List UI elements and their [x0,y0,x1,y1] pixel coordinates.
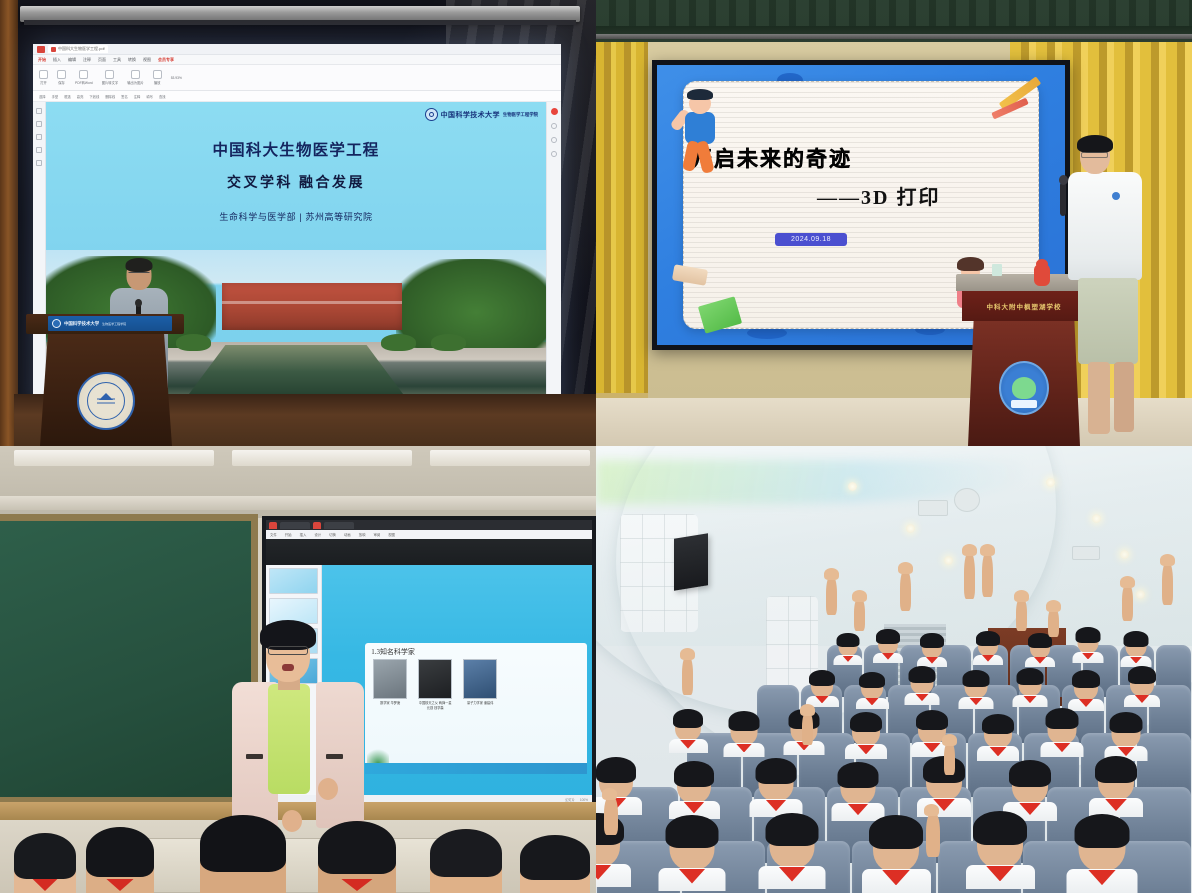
menu-item-start[interactable]: 开始 [38,57,46,63]
tool-marquee[interactable]: 框选 [64,94,71,99]
menu-item-convert[interactable]: 转换 [128,57,136,63]
student-head [978,633,998,655]
ustc-logo-sub: 生物医学工程学院 [503,112,538,118]
student-hair [876,629,899,644]
tool-highlight[interactable]: 高亮 [77,94,84,99]
slide-subtitle: ——3D 打印 [817,181,940,210]
student-hair [1124,631,1148,647]
portrait-caption: 数学家 华罗庚 [373,701,407,705]
red-scarf [679,869,706,884]
red-scarf [990,747,1007,756]
ustc-logo: 中国科学技术大学 生物医学工程学院 [425,108,538,121]
ribbon-open-button[interactable]: 打开 [39,70,48,85]
student-torso [1124,695,1160,707]
student-in-seat [770,818,815,889]
student-hair [837,633,859,647]
ribbon-ocr-button[interactable]: 图片转文字 [102,70,118,85]
raised-hand [604,795,618,835]
menu-item[interactable]: 文件 [270,532,277,537]
browser-tab[interactable] [324,522,354,529]
campus-bush [431,334,466,350]
slide-subtitle: 交叉学科 融合发展 [46,172,546,192]
play-icon [153,70,162,79]
student-torso [862,869,931,893]
student-head [670,820,715,870]
student-head [1019,671,1042,697]
wps-ribbon: 打开 保存 PDF转Word 图片转文字 输出为图片 [33,65,561,91]
student-silhouette [86,827,154,893]
raised-hand [982,551,993,597]
student-torso [1072,652,1104,663]
student-head [852,715,880,746]
ribbon-save-button[interactable]: 保存 [57,70,66,85]
student-in-seat [852,715,880,759]
student-torso [832,803,885,821]
tree-book-icon [1012,377,1036,399]
red-scarf [1117,747,1134,757]
student-in-seat [878,631,898,663]
ribbon-convert-label: PDF转Word [75,80,93,85]
student-head [861,674,883,699]
app-menu-bar: 文件 开始 插入 设计 切换 动画 放映 审阅 视图 [266,530,592,539]
water-cup [992,264,1002,276]
red-scarf [1079,699,1093,707]
student-head [922,635,942,657]
tool-fill[interactable]: 填写 [146,94,153,99]
student-torso [1013,695,1048,707]
pagoda-icon [97,393,115,409]
red-scarf [1082,653,1095,660]
menu-item[interactable]: 动画 [344,532,351,537]
ceiling-light [232,450,412,466]
red-scarf [680,740,696,749]
attachment-icon[interactable] [36,147,42,153]
wps-tab-bar: 中国科大生物医学工程.pdf [33,44,561,55]
panel-bottom-left: 文件 开始 插入 设计 切换 动画 放映 审阅 视图 [0,446,596,893]
teacher-hand [318,778,338,800]
raised-hand [1122,583,1133,621]
raised-hand [926,811,940,857]
ceiling-beam [0,496,596,510]
student-in-seat [759,762,794,817]
red-scarf [865,698,878,705]
student-silhouette [200,815,286,893]
student-hair [916,710,948,731]
ribbon-open-label: 打开 [40,80,47,85]
student-hair [728,711,759,731]
student-in-seat [1126,634,1147,667]
student-hair [430,829,502,877]
student-in-seat [922,635,942,667]
student-head [911,669,934,695]
student-hair [1075,814,1130,849]
student-silhouette [318,821,396,893]
browser-tab[interactable] [280,522,310,529]
pdf-file-icon [51,47,56,52]
ribbon-save-label: 保存 [58,80,65,85]
microphone-icon [1060,182,1066,216]
search-icon[interactable] [551,123,557,129]
red-scarf [1019,803,1041,815]
student-in-seat [677,765,711,819]
wps-tools-row: 选择 手型 框选 高亮 下划线 删除线 签名 注释 填写 查找 [33,91,561,102]
student-head [1130,669,1154,696]
raised-hand [802,711,813,745]
student-hair [982,714,1014,735]
student-in-seat [965,673,988,709]
red-scarf [736,744,752,753]
menu-item[interactable]: 设计 [314,532,321,537]
student-in-seat [1019,671,1042,707]
student-torso [977,746,1019,761]
wps-menu-bar: 开始 插入 编辑 注释 页面 工具 转换 视图 会员专享 [33,55,561,65]
convert-icon [79,70,88,79]
student-in-seat [670,820,715,891]
tool-select[interactable]: 选择 [39,94,46,99]
red-scarf [858,745,875,754]
red-scarf [1105,799,1127,811]
red-scarf [779,867,806,882]
student-in-seat [1030,635,1050,667]
student-head [1098,760,1134,800]
red-scarf [882,653,894,660]
portrait-caption: 量子力学家 潘建伟 [463,701,497,705]
ribbon-play-button[interactable]: 播放 [153,70,162,85]
menu-item[interactable]: 开始 [285,532,292,537]
tool-find[interactable]: 查找 [159,94,166,99]
student-hair [673,709,703,728]
student-in-seat [978,633,998,665]
red-scarf [1034,657,1046,664]
student-hair [1045,708,1079,729]
student-torso [959,697,994,709]
student-head [984,717,1012,748]
student-in-seat [1098,760,1134,817]
raised-hand [682,655,693,695]
student-in-seat [1130,669,1154,707]
red-scarf [684,802,704,813]
open-icon [39,70,48,79]
lectern-banner-text: 中国科学技术大学 [64,321,99,327]
student-in-seat [1074,673,1098,711]
kid-body [685,112,715,144]
student-silhouette [520,835,590,893]
student-torso [669,739,708,753]
student-hair [1009,760,1051,787]
menu-item-page[interactable]: 页面 [98,57,106,63]
student-hair [318,821,396,874]
thumbnail-icon[interactable] [36,121,42,127]
student-head [839,635,858,656]
student-hair [1017,668,1044,685]
student-in-seat [873,820,919,893]
menu-item[interactable]: 审阅 [373,532,380,537]
red-scarf [1053,743,1070,753]
student-in-seat [841,766,876,821]
stage-curtain-left [596,38,648,393]
red-scarf [766,800,787,812]
speaker-leg [1114,362,1134,432]
screen-rail-shadow [24,20,576,25]
student-in-seat [911,669,934,705]
jacket-pocket [246,754,263,759]
student-in-seat [1079,819,1126,893]
ribbon-export-label: 输出为图片 [127,80,143,85]
student-head [1126,634,1147,658]
wps-logo-icon [37,46,45,53]
document-tab[interactable]: 中国科大生物医学工程.pdf [48,45,108,53]
student-head [811,672,833,697]
shirt-logo-icon [1112,192,1120,200]
student-head [1030,635,1050,657]
slide-heading: 1.3知名科学家 [371,647,415,657]
student-torso [1025,657,1055,667]
tool-comment[interactable]: 注释 [134,94,141,99]
student-head [1078,630,1099,654]
student-in-seat [1078,630,1099,663]
outline-icon[interactable] [36,134,42,140]
speaker-shirt [1068,172,1142,280]
student-torso [856,698,889,709]
student-hair [520,835,590,880]
panel-top-left: 中国科大生物医学工程.pdf 开始 插入 编辑 注释 页面 工具 转换 视图 会… [0,0,596,446]
student-hair [1076,627,1100,643]
menu-item[interactable]: 插入 [300,532,307,537]
ustc-seal-icon [425,108,438,121]
student-in-seat [861,674,883,709]
share-icon[interactable] [551,151,557,157]
speaker-hair [1077,135,1113,153]
bookmark-icon[interactable] [36,108,42,114]
info-icon[interactable] [36,160,42,166]
student-hair [756,758,797,784]
student-hair [850,712,882,733]
bear-figurine [1034,264,1050,286]
student-hair [963,670,990,687]
tool-underline[interactable]: 下划线 [89,94,99,99]
red-scarf [926,657,938,664]
zoom-level-label: 53.93% [171,76,182,80]
student-hair [14,833,76,879]
teacher-mouth [282,664,294,671]
lectern-body [40,334,172,446]
student-hair [809,670,835,686]
student-torso [758,866,826,889]
portrait-image [373,659,407,699]
menu-item-view[interactable]: 视图 [143,57,151,63]
ustc-logo-name: 中国科学技术大学 [441,110,500,120]
student-hair [666,815,718,848]
raised-hand [964,551,975,599]
red-scarf [1023,696,1037,704]
lectern-banner: 中国科学技术大学 生物医学工程学院 [48,316,172,331]
student-torso [1040,742,1084,757]
chalkboard [0,514,258,804]
wood-wall-strip [0,0,18,446]
student-hair [838,762,879,788]
student-head [770,818,815,868]
student-torso [596,864,631,887]
student-in-seat [1048,711,1077,757]
photo-collage: 中国科大生物医学工程.pdf 开始 插入 编辑 注释 页面 工具 转换 视图 会… [0,0,1192,893]
ribbon-area [266,539,592,565]
banner-seal-icon [52,319,61,328]
kid-hair [957,257,984,271]
menu-item-annotate[interactable]: 注释 [83,57,91,63]
speaker-leg [1088,362,1110,434]
ceiling-light [14,450,214,466]
menu-item[interactable]: 放映 [359,532,366,537]
ocr-icon [105,70,114,79]
student-torso [834,655,863,665]
student-torso [973,655,1003,665]
student-in-seat [1112,715,1141,761]
kid-leg [695,140,714,174]
campus-pool [186,345,406,398]
menu-item-edit[interactable]: 编辑 [68,57,76,63]
student-head [1012,764,1048,804]
menu-item[interactable]: 切换 [329,532,336,537]
portrait-image [463,659,497,699]
student-in-seat [675,712,701,753]
lectern-body [968,321,1080,446]
campus-tree-right [396,259,546,348]
student-torso [845,744,887,759]
ribbon-convert-button[interactable]: PDF转Word [75,70,93,85]
ribbon-ocr-label: 图片转文字 [102,80,118,85]
speaker-glasses [129,272,150,277]
slide-department: 生命科学与医学部 | 苏州高等研究院 [46,210,546,223]
student-silhouette [14,833,76,893]
student-in-seat [918,713,946,757]
red-scarf [842,656,853,662]
student-hair [869,815,922,849]
student-hair [674,761,713,786]
student-head [1112,715,1141,747]
raised-hand [1016,597,1027,631]
red-scarf [1088,870,1116,886]
audience-seating [596,453,1192,893]
slide-thumbnail[interactable] [269,568,318,594]
red-scarf [915,694,929,702]
student-head [841,766,876,805]
student-in-seat [839,635,858,665]
student-silhouette [430,829,502,893]
tool-strikethrough[interactable]: 删除线 [105,94,115,99]
speaker-hair [126,258,153,272]
zoom-control[interactable]: 53.93% [171,76,182,80]
student-head [977,816,1023,868]
panel-bottom-right [596,446,1192,893]
raised-hand [826,575,837,615]
student-hair [973,811,1026,845]
student-torso [1120,656,1152,667]
student-hair [200,815,286,872]
school-emblem [999,361,1049,415]
speaker-figure [1066,138,1158,446]
raised-hand [900,569,911,611]
lectern-banner-sub: 生物医学工程学院 [102,322,126,326]
red-scarf [848,804,869,816]
ribbon-play-label: 播放 [154,80,161,85]
student-hair [1109,712,1143,733]
portrait-image [418,659,452,699]
kid-illustration-left [673,83,735,191]
student-in-seat [977,816,1023,889]
campus-bush [381,334,416,350]
speaker-shorts [1078,278,1138,364]
red-scarf [815,696,828,703]
portrait-item: 数学家 华罗庚 [373,659,407,710]
portrait-item: 中国核天之父 两弹一星元勋 钱学森 [418,659,452,710]
slide-white-area: 1.3知名科学家 数学家 华罗庚 中国核天之父 两弹一星元勋 钱学森 [365,643,586,774]
student-hair [1095,756,1137,783]
ribbon-export-button[interactable]: 输出为图片 [127,70,143,85]
ceiling-slats [596,0,1192,26]
student-hair [920,633,943,648]
save-icon [57,70,66,79]
tool-signature[interactable]: 签名 [121,94,128,99]
raised-hand [854,597,865,631]
zoom-reset-icon[interactable] [551,137,557,143]
jacket-pocket [326,754,343,759]
student-head [675,712,701,741]
student-hair [859,672,885,688]
red-scarf [1135,695,1149,703]
menu-item[interactable]: 视图 [388,532,395,537]
record-icon[interactable] [551,108,558,115]
lighting-truss [596,34,1192,39]
browser-tab-bar [266,520,592,530]
lectern: 中国科学技术大学 生物医学工程学院 [26,314,184,446]
menu-item-tools[interactable]: 工具 [113,57,121,63]
student-torso [1068,699,1104,711]
portrait-item: 量子力学家 潘建伟 [463,659,497,710]
panel-top-right: 开启未来的奇迹 ——3D 打印 2024.09.18 中科大附中枫塑湖学校 [596,0,1192,446]
student-hair [596,757,635,782]
student-head [1048,711,1077,743]
document-tab-label: 中国科大生物医学工程.pdf [58,46,105,52]
student-head [873,820,919,872]
kid-hair [687,89,713,100]
red-scarf [924,743,941,752]
raised-hand [944,741,955,775]
menu-item-insert[interactable]: 插入 [53,57,61,63]
ceiling-light [430,450,590,466]
student-in-seat [984,717,1012,761]
student-hair [1128,666,1156,684]
student-in-seat [1012,764,1048,821]
tool-hand[interactable]: 手型 [52,94,59,99]
student-in-seat [731,714,758,757]
student-hair [86,827,154,877]
teacher-glasses [268,646,308,655]
speaker-glasses [1081,152,1108,158]
foreground-students [0,801,596,893]
right-tool-rail [546,102,561,414]
menu-item-member[interactable]: 会员专享 [158,57,174,63]
student-head [1074,673,1098,700]
student-head [965,673,988,699]
red-scarf [982,655,994,662]
student-head [677,765,711,803]
student-head [731,714,758,744]
scientist-portrait-row: 数学家 华罗庚 中国核天之父 两弹一星元勋 钱学森 量子力学家 潘建伟 [373,659,578,710]
student-head [759,762,794,801]
pdf-tab-icon [313,522,321,529]
student-torso [724,743,765,757]
student-in-seat [811,672,833,707]
